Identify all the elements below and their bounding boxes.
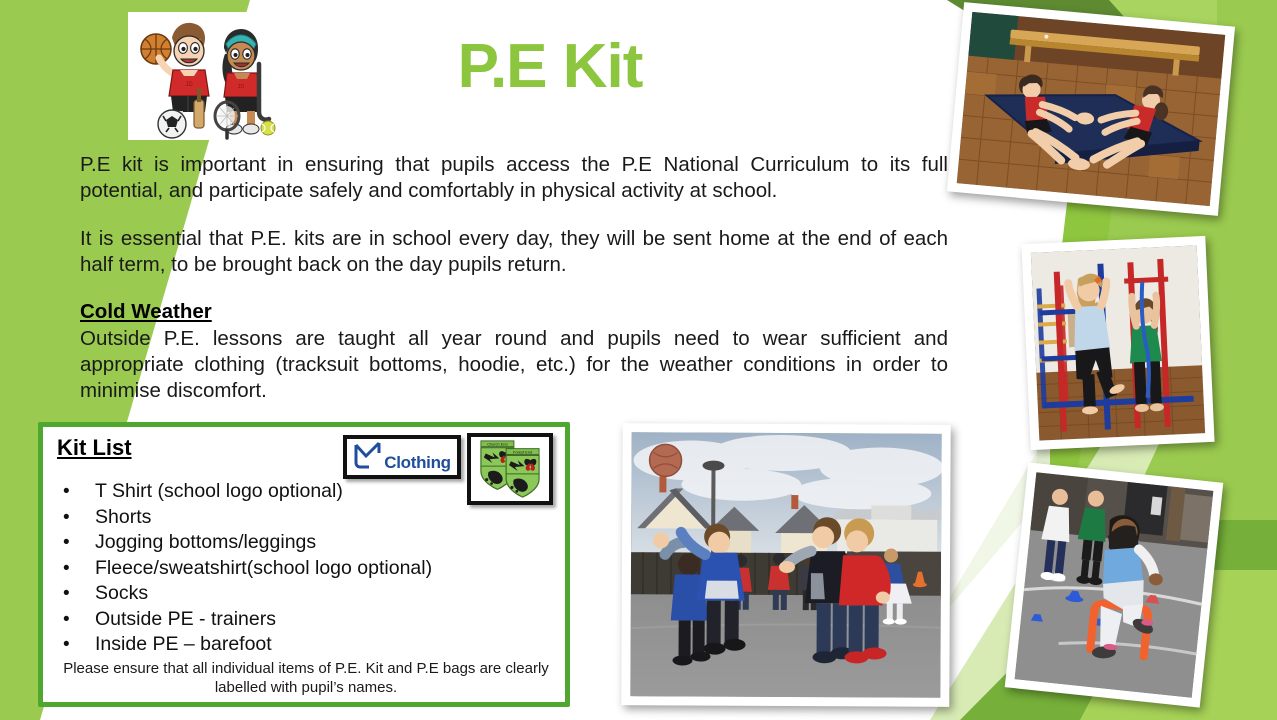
list-item-label: Fleece/sweatshirt(school logo optional) [95, 557, 432, 579]
kit-list-box: Kit List Clothing [38, 422, 570, 707]
list-item: •Shorts [53, 505, 553, 531]
svg-text:Church End: Church End [487, 442, 507, 447]
myclothing-m-icon [353, 441, 383, 473]
bullet-icon: • [63, 479, 70, 505]
list-item: •T Shirt (school logo optional) [53, 479, 553, 505]
sports-children-clipart: JD [128, 12, 286, 140]
bullet-icon: • [63, 530, 70, 556]
list-item-label: Jogging bottoms/leggings [95, 531, 316, 553]
list-item-label: Socks [95, 582, 148, 604]
svg-text:Forest End: Forest End [513, 449, 532, 454]
list-item-label: T Shirt (school logo optional) [95, 480, 343, 502]
page-title: P.E Kit [340, 36, 760, 98]
list-item: •Socks [53, 581, 553, 607]
kit-list-note: Please ensure that all individual items … [61, 659, 551, 697]
kit-list-items: •T Shirt (school logo optional) •Shorts … [53, 479, 553, 658]
photo-playground-hurdle [1005, 462, 1224, 707]
cold-weather-heading: Cold Weather [80, 300, 948, 324]
photo-gymnastics-partner-stretch [947, 2, 1235, 216]
cold-weather-paragraph: Outside P.E. lessons are taught all year… [80, 326, 948, 404]
list-item-label: Shorts [95, 506, 151, 528]
list-item: •Jogging bottoms/leggings [53, 530, 553, 556]
photo-playground-ball-game [621, 423, 950, 707]
list-item-label: Inside PE – barefoot [95, 633, 272, 655]
kit-list-title: Kit List [57, 435, 132, 461]
pe-kit-slide: JD [0, 0, 1277, 720]
intro-paragraph-2: It is essential that P.E. kits are in sc… [80, 226, 948, 278]
list-item: •Fleece/sweatshirt(school logo optional) [53, 556, 553, 582]
bullet-icon: • [63, 556, 70, 582]
bullet-icon: • [63, 505, 70, 531]
list-item: •Inside PE – barefoot [53, 632, 553, 658]
bullet-icon: • [63, 607, 70, 633]
list-item: •Outside PE - trainers [53, 607, 553, 633]
svg-text:JD: JD [185, 82, 193, 88]
bullet-icon: • [63, 581, 70, 607]
bullet-icon: • [63, 632, 70, 658]
photo-climbing-frame [1021, 236, 1214, 450]
body-text-column: P.E kit is important in ensuring that pu… [80, 152, 948, 404]
myclothing-logo-text: Clothing [384, 454, 451, 471]
myclothing-logo: Clothing [343, 435, 461, 479]
list-item-label: Outside PE - trainers [95, 608, 276, 630]
intro-paragraph-1: P.E kit is important in ensuring that pu… [80, 152, 948, 204]
svg-text:JD: JD [238, 84, 245, 90]
